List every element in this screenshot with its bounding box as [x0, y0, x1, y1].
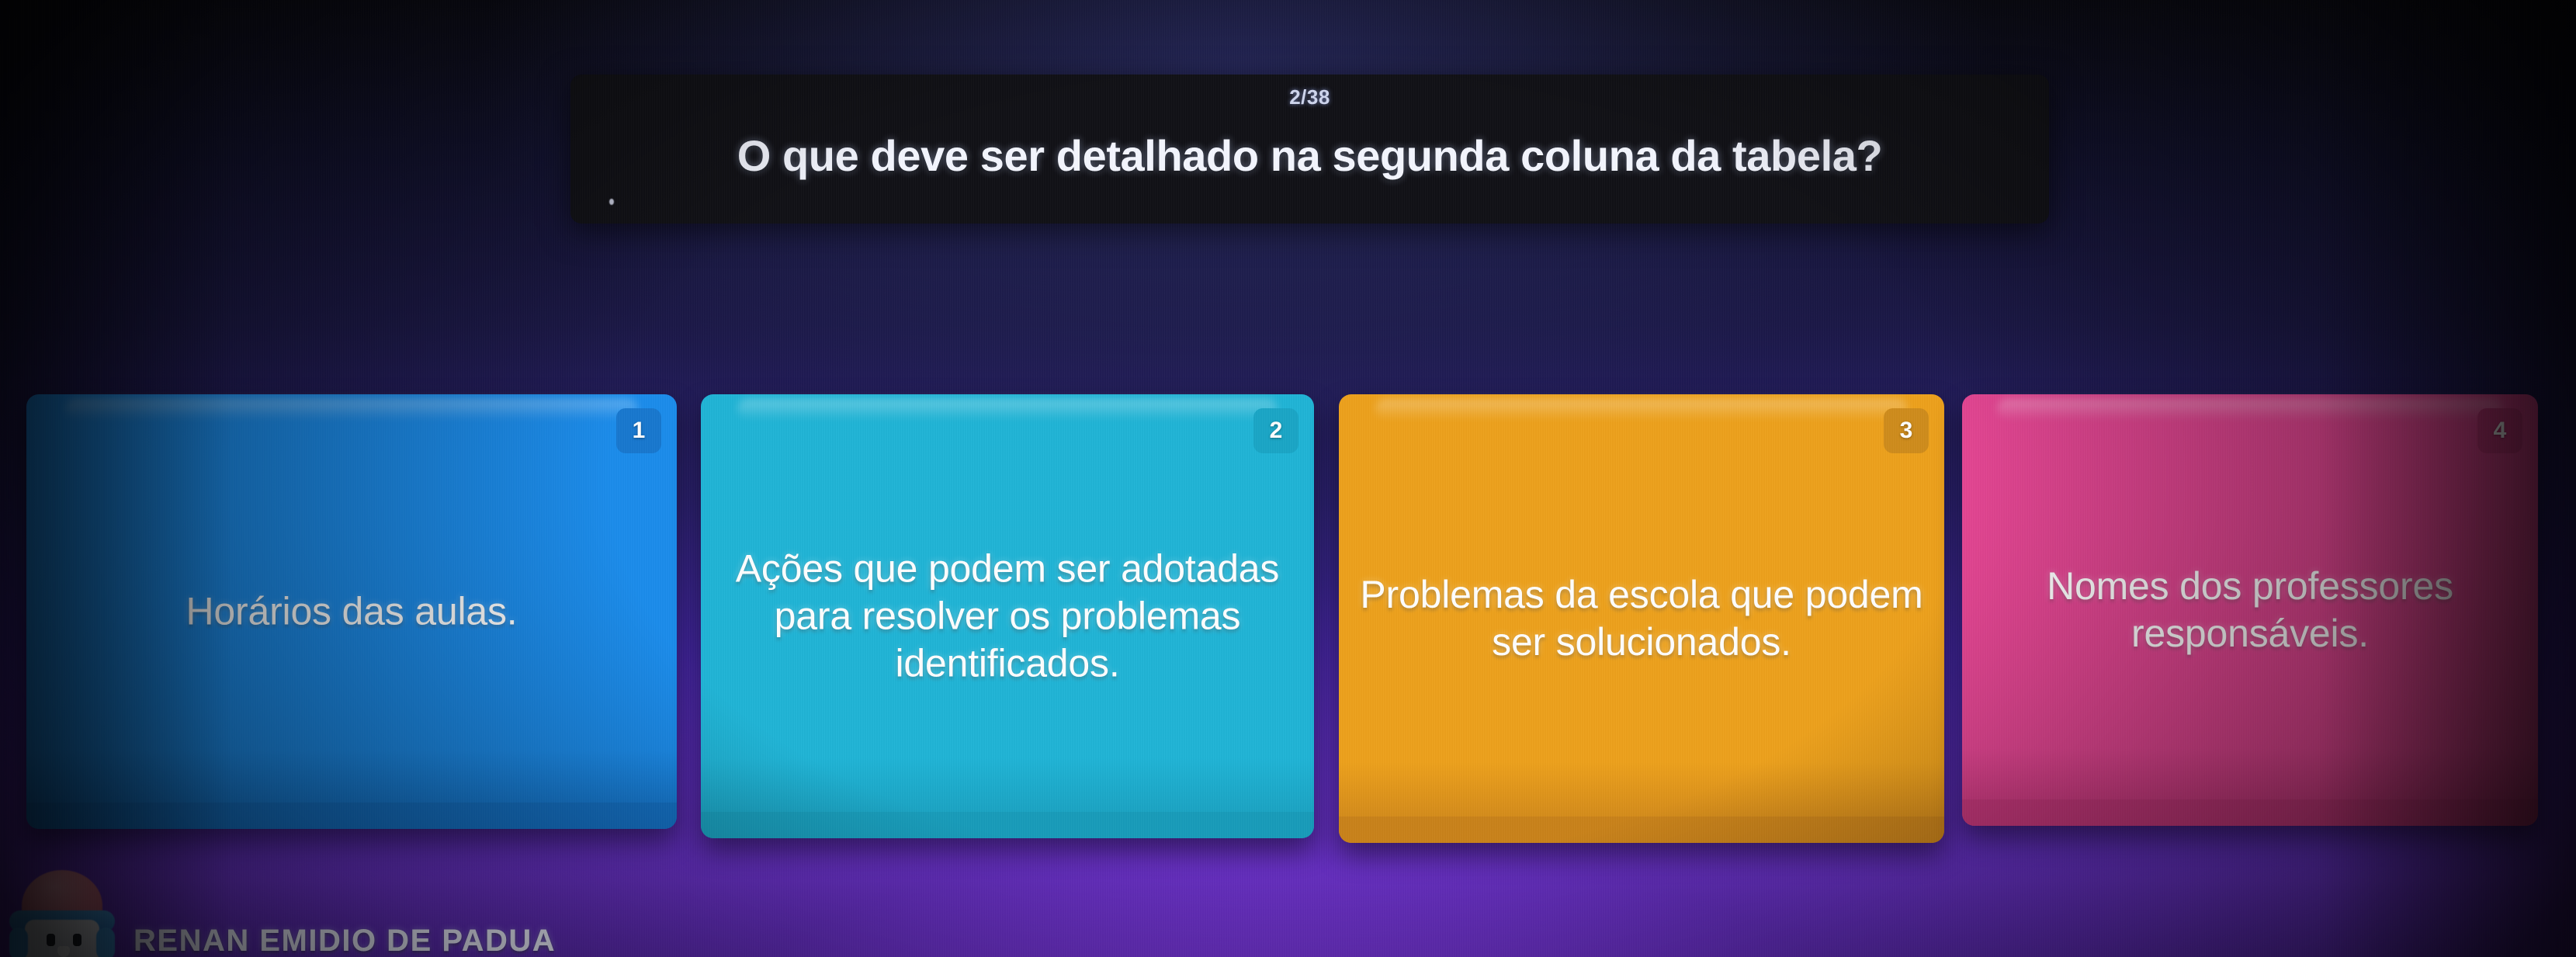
- answer-card-2-label: Ações que podem ser adotadas para resolv…: [721, 546, 1294, 688]
- answer-card-1[interactable]: 1 Horários das aulas.: [26, 394, 677, 829]
- answer-card-3-label: Problemas da escola que podem ser soluci…: [1359, 571, 1924, 666]
- player-avatar-icon: [8, 869, 116, 957]
- answer-card-3[interactable]: 3 Problemas da escola que podem ser solu…: [1339, 394, 1944, 843]
- answer-card-3-number-badge: 3: [1884, 408, 1929, 453]
- answer-card-1-number-badge: 1: [616, 408, 661, 453]
- player-bar: RENAN EMIDIO DE PADUA: [8, 869, 556, 957]
- answer-card-4-label: Nomes dos professores responsáveis.: [1982, 563, 2518, 657]
- avatar-eye-left: [47, 934, 55, 946]
- answer-options: 1 Horários das aulas. 2 Ações que podem …: [0, 394, 2576, 844]
- avatar-arm-right: [96, 928, 115, 957]
- avatar-eye-right: [73, 934, 81, 946]
- quiz-screen: 2/38 O que deve ser detalhado na segunda…: [0, 0, 2576, 957]
- screen-dust-speck: [609, 199, 614, 205]
- answer-card-1-label: Horários das aulas.: [47, 588, 657, 636]
- question-counter: 2/38: [570, 85, 2049, 109]
- question-panel: 2/38 O que deve ser detalhado na segunda…: [570, 75, 2049, 224]
- answer-card-2[interactable]: 2 Ações que podem ser adotadas para reso…: [701, 394, 1314, 838]
- answer-card-4[interactable]: 4 Nomes dos professores responsáveis.: [1962, 394, 2538, 826]
- player-name: RENAN EMIDIO DE PADUA: [133, 924, 556, 957]
- answer-card-2-number-badge: 2: [1253, 408, 1298, 453]
- answer-card-4-number-badge: 4: [2477, 408, 2522, 453]
- avatar-arm-left: [9, 928, 28, 957]
- question-text: O que deve ser detalhado na segunda colu…: [602, 130, 2018, 181]
